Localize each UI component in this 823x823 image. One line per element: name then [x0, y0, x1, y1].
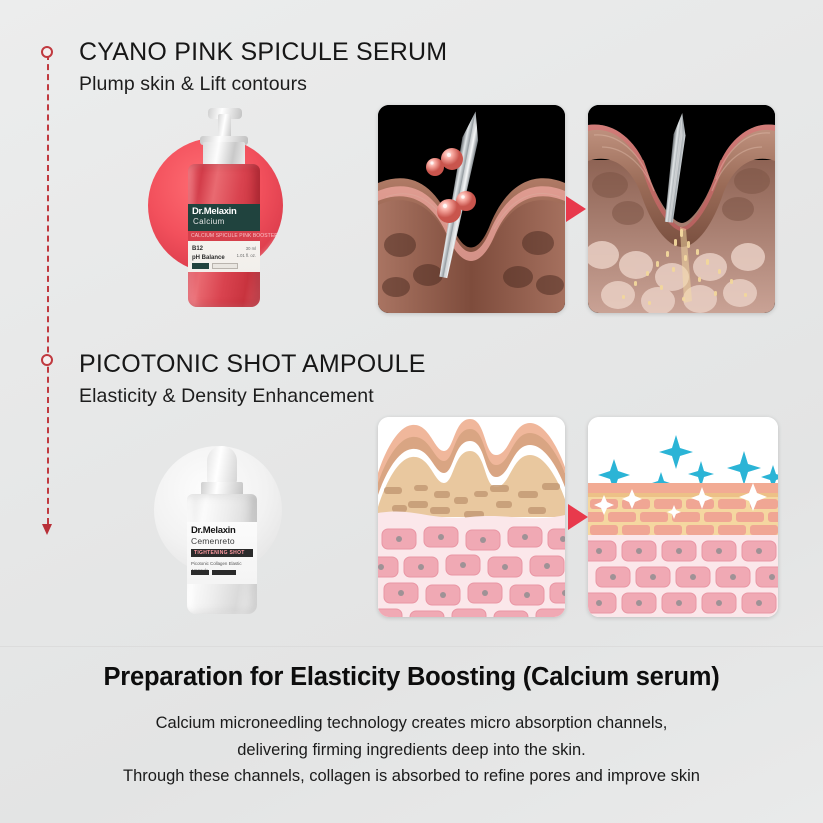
dropper-cap: [207, 446, 237, 484]
timeline-arrow-icon: [42, 524, 52, 535]
label-strip-text: CALCIUM SPICULE PINK BOOSTER: [191, 233, 278, 239]
timeline-marker-1: [41, 46, 53, 58]
label-detail-left-2: pH Balance: [192, 255, 225, 261]
wrinkled-skin-illustration: [378, 417, 565, 617]
pore-after-illustration: [588, 105, 775, 313]
label-badge-1: [191, 570, 209, 575]
section-2-title: PICOTONIC SHOT AMPOULE: [79, 350, 426, 379]
label-strip-text: TIGHTENING SHOT: [194, 550, 245, 556]
bottle-label: Dr.Melaxin Calcium CALCIUM SPICULE PINK …: [188, 204, 260, 272]
result-arrow-row-2: [568, 504, 588, 530]
panel-skin-before: [378, 417, 565, 617]
product-image-picotonic-shot-ampoule: Dr.Melaxin Cemenreto TIGHTENING SHOT Pic…: [140, 432, 305, 622]
bottom-line-1: Calcium microneedling technology creates…: [156, 714, 668, 732]
section-2-subtitle: Elasticity & Density Enhancement: [79, 385, 426, 408]
result-arrow-row-1: [566, 196, 586, 222]
section-divider: [0, 646, 823, 647]
label-strip: TIGHTENING SHOT: [191, 549, 253, 557]
label-badge-2: [212, 570, 236, 575]
pore-before-illustration: [378, 105, 565, 313]
bottom-body: Calcium microneedling technology creates…: [0, 710, 823, 790]
label-detail-right: 30 ml 1.01 fl. oz.: [237, 245, 256, 259]
label-brand: Dr.Melaxin: [191, 526, 236, 536]
label-line: Cemenreto: [191, 537, 235, 546]
section-1-heading-group: CYANO PINK SPICULE SERUM Plump skin & Li…: [79, 38, 447, 96]
bottom-line-2: delivering firming ingredients deep into…: [237, 741, 586, 759]
timeline-connector: [41, 44, 55, 544]
timeline-marker-2: [41, 354, 53, 366]
label-brand: Dr.Melaxin: [192, 207, 257, 217]
label-header-band: Dr.Melaxin Calcium: [188, 204, 260, 231]
label-badge-2: [212, 263, 238, 269]
product-image-cyano-pink-spicule-serum: Dr.Melaxin Calcium CALCIUM SPICULE PINK …: [140, 108, 305, 320]
panel-spicule-after: [588, 105, 775, 313]
label-detail-right-2: 1.01 fl. oz.: [237, 253, 256, 258]
section-2-heading-group: PICOTONIC SHOT AMPOULE Elasticity & Dens…: [79, 350, 426, 408]
bottle-label: Dr.Melaxin Cemenreto TIGHTENING SHOT Pic…: [187, 522, 257, 584]
label-strip: CALCIUM SPICULE PINK BOOSTER: [188, 231, 260, 241]
bottom-heading: Preparation for Elasticity Boosting (Cal…: [0, 663, 823, 692]
section-1-subtitle: Plump skin & Lift contours: [79, 73, 447, 96]
infographic-page: CYANO PINK SPICULE SERUM Plump skin & Li…: [0, 0, 823, 823]
label-badge-1: [192, 263, 209, 269]
bottom-line-3: Through these channels, collagen is abso…: [123, 767, 700, 785]
label-detail-right-1: 30 ml: [246, 246, 256, 251]
label-line: Calcium: [193, 218, 257, 226]
timeline-dashed-line: [47, 54, 49, 524]
section-1-title: CYANO PINK SPICULE SERUM: [79, 38, 447, 67]
panel-spicule-before: [378, 105, 565, 313]
panel-skin-after: [588, 417, 778, 617]
firm-skin-illustration: [588, 417, 778, 617]
bottom-text-block: Preparation for Elasticity Boosting (Cal…: [0, 663, 823, 790]
label-detail-left: B12 pH Balance: [192, 245, 225, 263]
label-detail-left-1: B12: [192, 246, 203, 252]
